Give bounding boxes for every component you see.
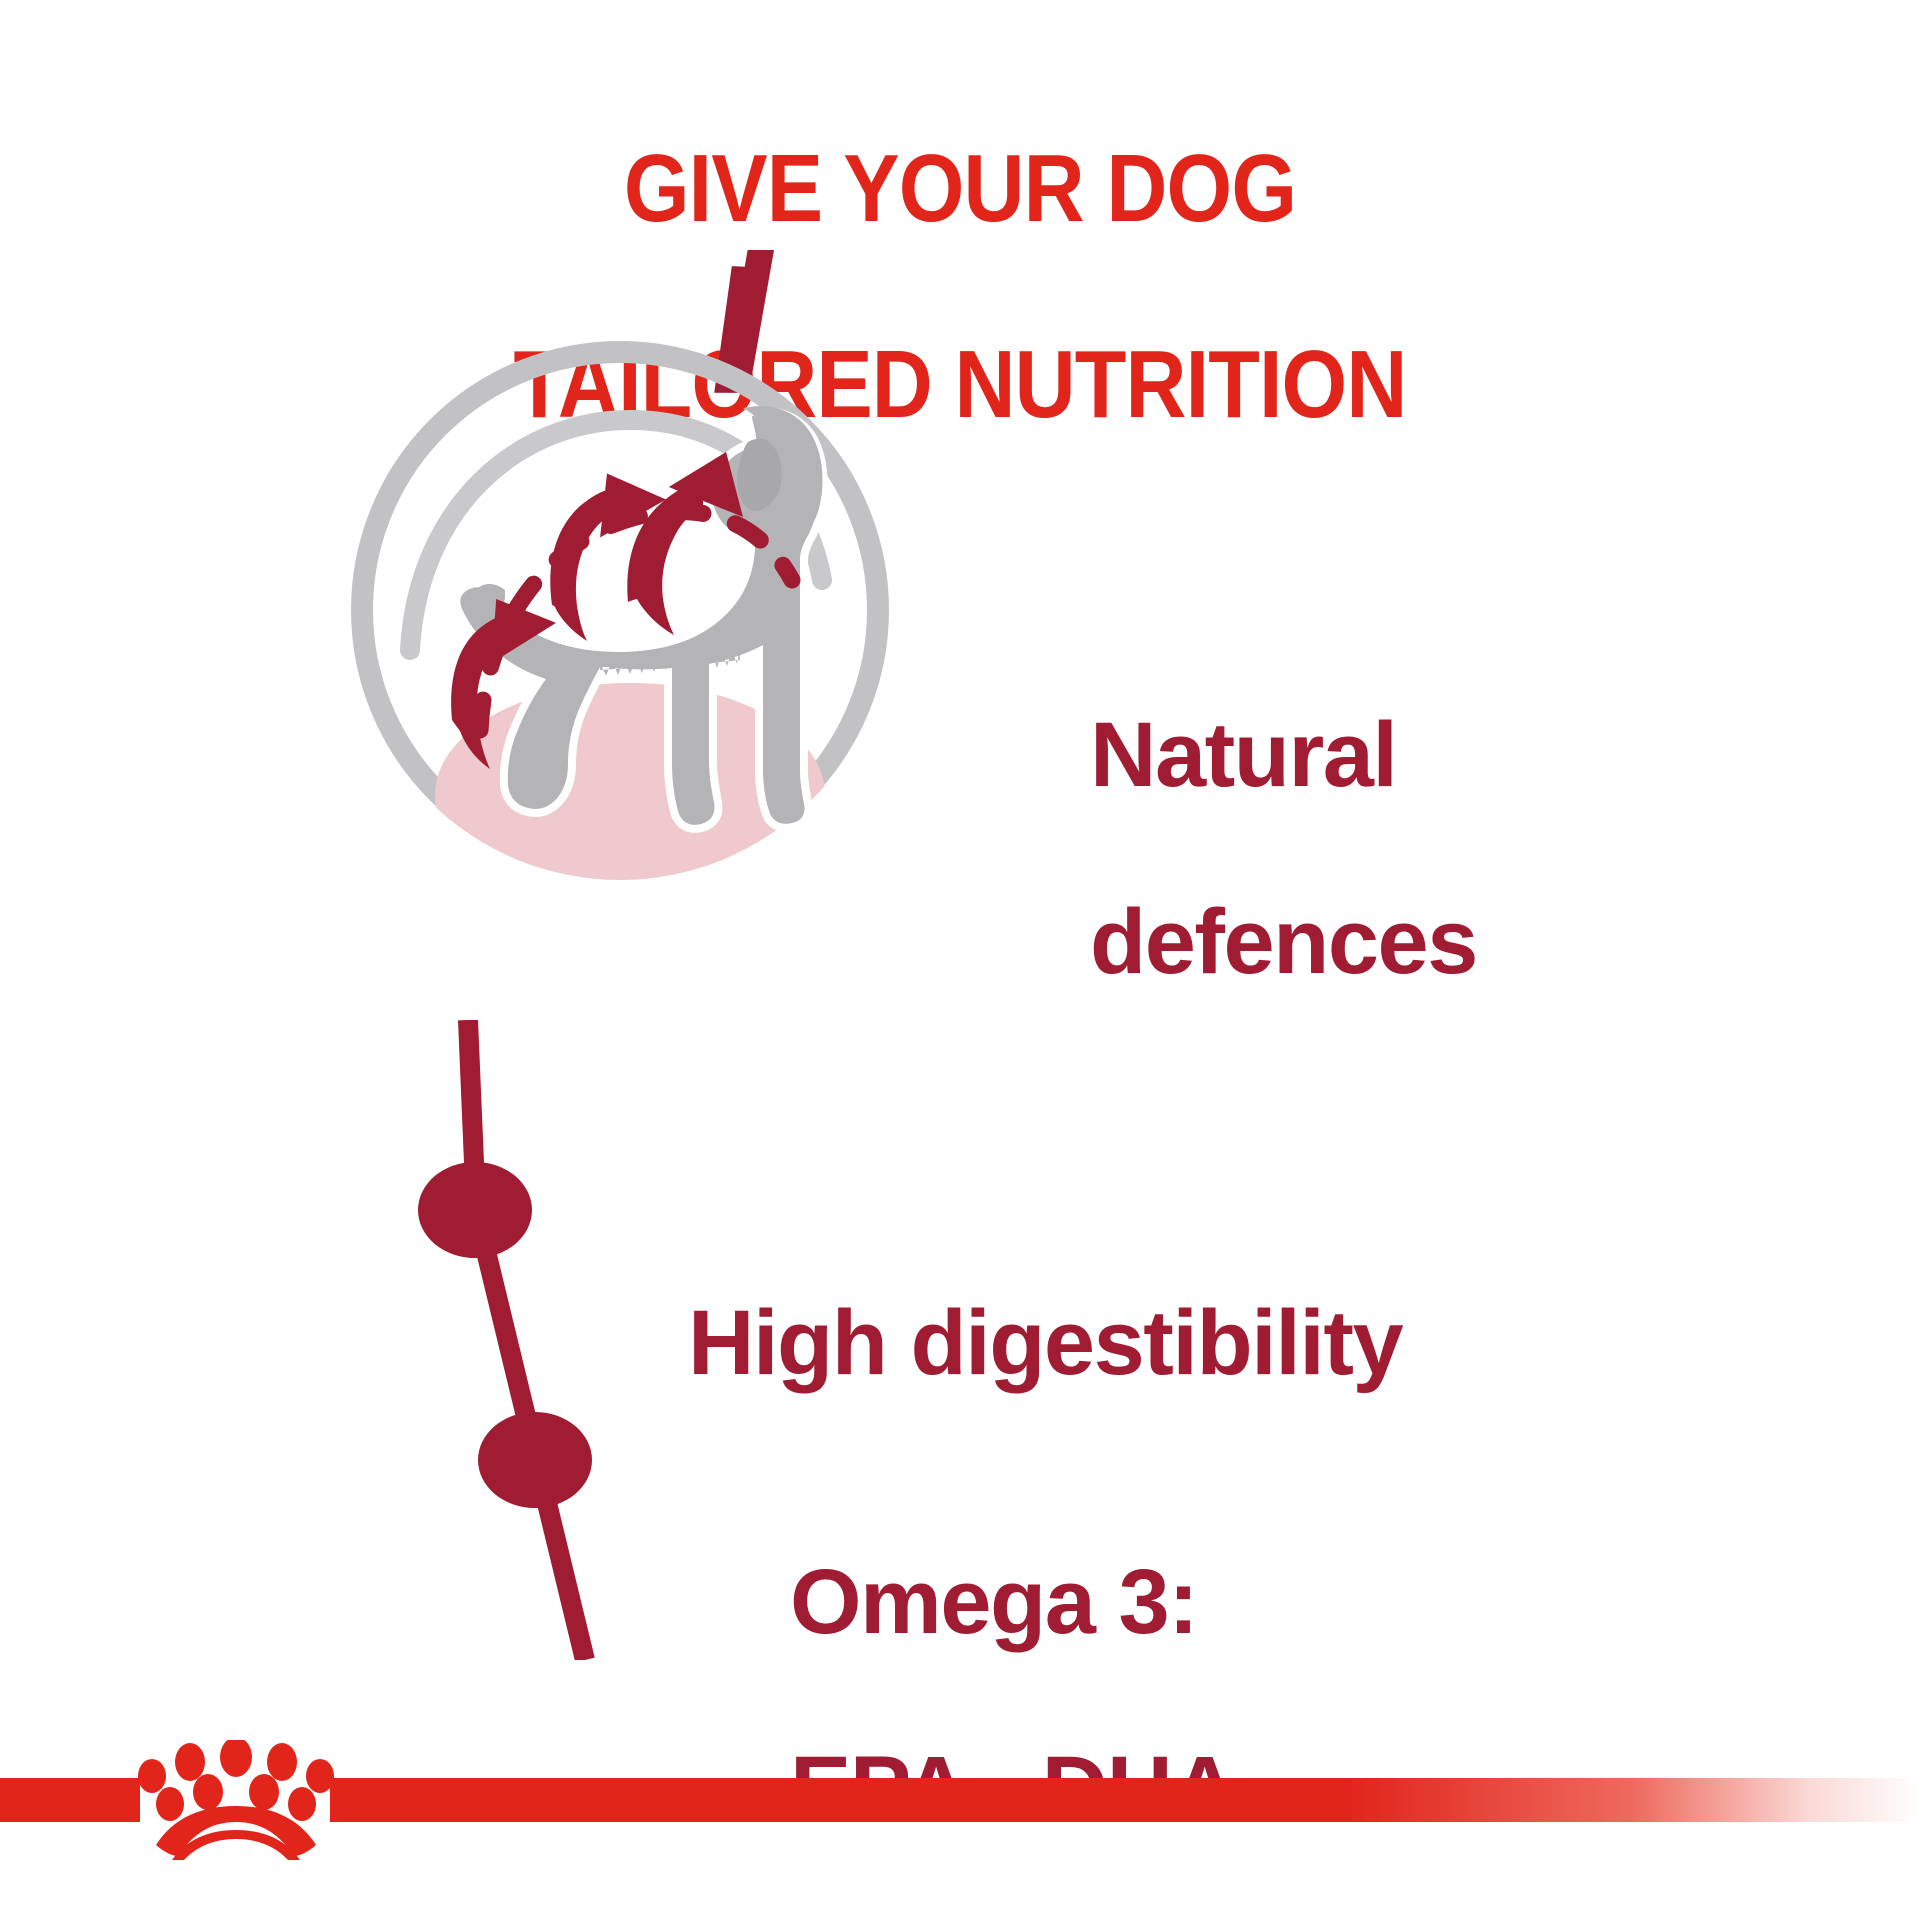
- connector-line: [380, 1020, 740, 1660]
- royal-canin-crown-logo: [128, 1740, 344, 1860]
- dog-natural-defences-icon: [300, 290, 940, 930]
- benefit-3-line-1: Omega 3:: [790, 1551, 1197, 1653]
- connector-dot: [478, 1412, 592, 1508]
- benefit-1-line-1: Natural: [1090, 704, 1396, 806]
- benefit-1-line-2: defences: [1090, 891, 1477, 993]
- royal-canin-brand-bar: [0, 1740, 1920, 1860]
- benefit-label-natural-defences: Natural defences: [1090, 615, 1477, 990]
- poster-canvas: GIVE YOUR DOG TAILORED NUTRITION: [0, 0, 1920, 1920]
- benefit-2-line-1: High digestibility: [688, 1292, 1402, 1394]
- headline-line-1: GIVE YOUR DOG: [115, 140, 1805, 238]
- brand-bar-right-segment: [330, 1778, 1920, 1822]
- connector-dot: [418, 1162, 532, 1258]
- brand-bar-left-segment: [0, 1778, 140, 1822]
- benefit-label-high-digestibility: High digestibility: [688, 1203, 1402, 1391]
